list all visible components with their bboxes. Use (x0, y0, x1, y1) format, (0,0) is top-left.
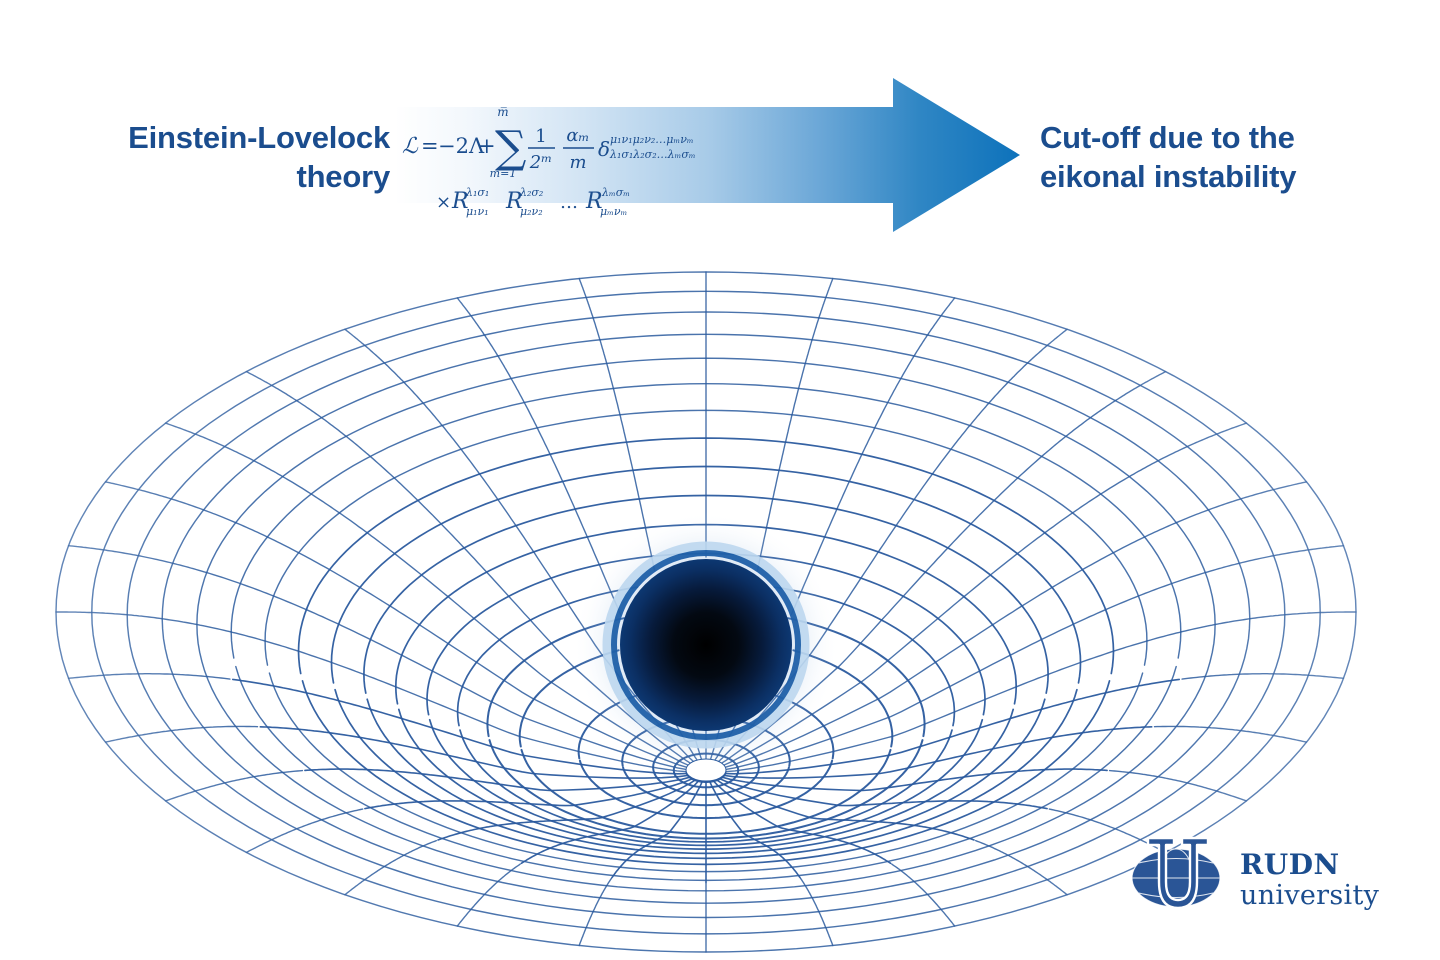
left-caption-line1: Einstein-Lovelock (60, 118, 390, 157)
grid-spoke (345, 841, 436, 895)
illustration-canvas: ℒ = −2Λ + m̅ ∑ m=1 1 2ᵐ αₘ m δ μ₁ν₁μ₂ν₂…… (0, 0, 1440, 960)
black-hole (573, 512, 840, 779)
process-arrow (395, 78, 1020, 248)
funnel-throat (686, 759, 726, 781)
rudn-globe-icon (1132, 838, 1220, 908)
rudn-name-bottom: university (1240, 880, 1380, 911)
grid-spoke (712, 775, 1047, 808)
grid-spoke (106, 726, 258, 742)
right-caption: Cut-off due to the eikonal instability (1040, 118, 1370, 197)
grid-spoke (365, 775, 700, 808)
left-caption-line2: theory (60, 157, 390, 196)
grid-spoke (1155, 726, 1307, 742)
arrow-shape (395, 78, 1020, 232)
right-caption-line1: Cut-off due to the (1040, 118, 1370, 157)
black-hole-core (620, 559, 792, 731)
grid-spoke (976, 841, 1067, 895)
rudn-university-logo: RUDN university (1128, 826, 1390, 926)
right-caption-line2: eikonal instability (1040, 157, 1370, 196)
left-caption: Einstein-Lovelock theory (60, 118, 390, 197)
rudn-name-top: RUDN (1240, 848, 1340, 881)
